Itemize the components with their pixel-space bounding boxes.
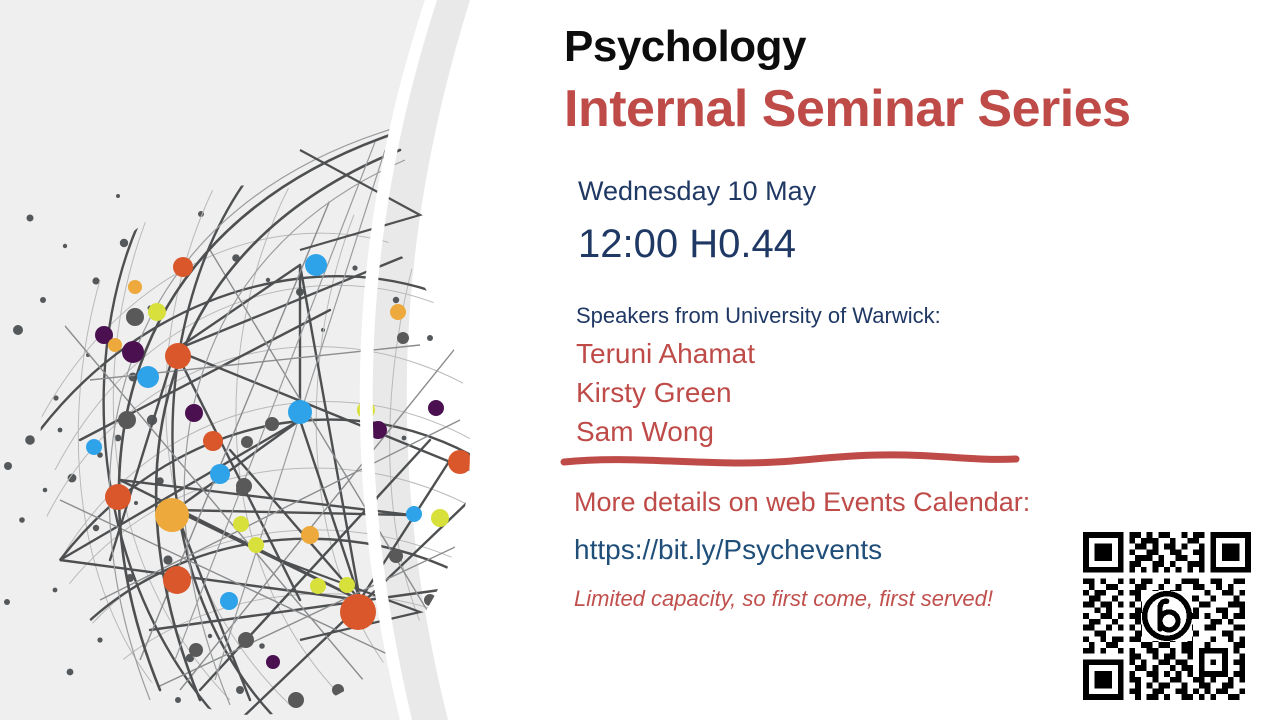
list-item: Teruni Ahamat <box>576 334 996 373</box>
event-date: Wednesday 10 May <box>578 176 816 207</box>
events-calendar-label: More details on web Events Calendar: <box>574 487 1030 518</box>
bitly-b-logo <box>1142 591 1192 641</box>
page-title-department: Psychology <box>564 24 806 70</box>
speakers-label: Speakers from University of Warwick: <box>576 303 941 329</box>
divider-squiggle <box>560 446 1030 474</box>
seminar-poster: Psychology Internal Seminar Series Wedne… <box>0 0 1280 720</box>
list-item: Kirsty Green <box>576 373 996 412</box>
event-url-link[interactable]: https://bit.ly/Psychevents <box>574 534 882 566</box>
page-title-series: Internal Seminar Series <box>564 82 1131 137</box>
network-sphere-illustration <box>0 0 560 720</box>
poster-text-column: Psychology Internal Seminar Series Wedne… <box>560 0 1280 720</box>
qr-code[interactable] <box>1083 532 1251 700</box>
capacity-note: Limited capacity, so first come, first s… <box>574 586 993 612</box>
speaker-list: Teruni Ahamat Kirsty Green Sam Wong <box>576 334 996 451</box>
event-time-and-room: 12:00 H0.44 <box>578 222 796 267</box>
